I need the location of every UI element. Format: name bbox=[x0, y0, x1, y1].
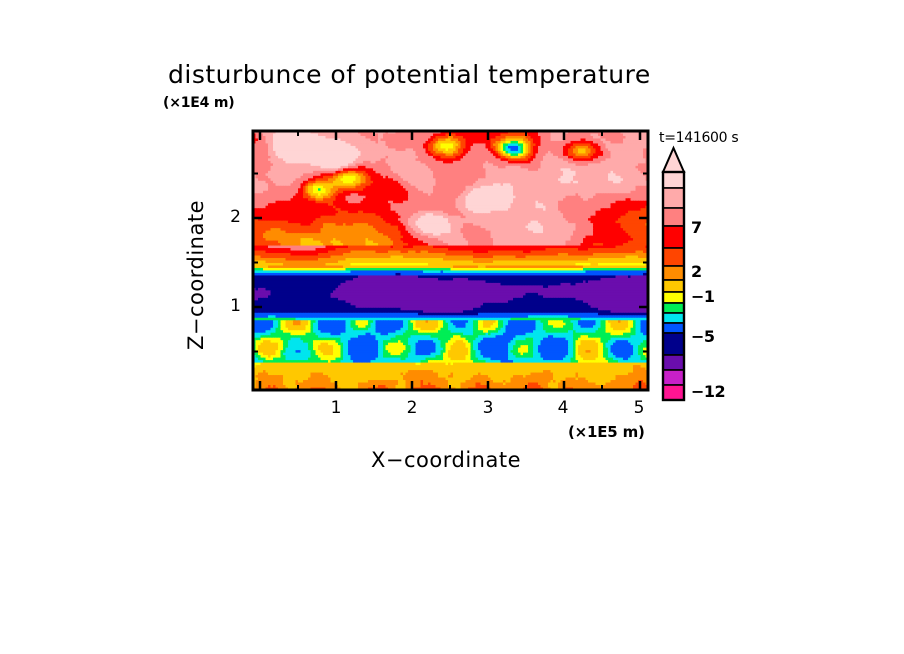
colorbar-band-14 bbox=[663, 385, 684, 400]
colorbar-band-10 bbox=[663, 323, 684, 333]
colorbar-label-1: 2 bbox=[691, 262, 702, 281]
colorbar-band-1 bbox=[663, 188, 684, 208]
colorbar-band-8 bbox=[663, 303, 684, 313]
colorbar-band-2 bbox=[663, 208, 684, 226]
x-tick-label-2: 2 bbox=[402, 398, 422, 418]
figure-canvas: disturbunce of potential temperature (×1… bbox=[0, 0, 904, 654]
contour-field bbox=[253, 131, 649, 391]
colorbar-label-0: 7 bbox=[691, 218, 702, 237]
x-tick-label-1: 1 bbox=[326, 398, 346, 418]
y-tick-label-2: 2 bbox=[221, 207, 241, 227]
colorbar-band-4 bbox=[663, 248, 684, 266]
colorbar-label-3: −5 bbox=[691, 327, 715, 346]
colorbar-label-2: −1 bbox=[691, 287, 715, 306]
colorbar-swatches bbox=[663, 148, 684, 400]
colorbar-band-12 bbox=[663, 355, 684, 370]
colorbar-band-6 bbox=[663, 280, 684, 292]
colorbar-band-5 bbox=[663, 266, 684, 280]
colorbar-band-3 bbox=[663, 226, 684, 248]
colorbar-band-11 bbox=[663, 333, 684, 355]
x-tick-label-5: 5 bbox=[629, 398, 649, 418]
y-tick-label-1: 1 bbox=[221, 296, 241, 316]
x-tick-label-3: 3 bbox=[478, 398, 498, 418]
colorbar-band-0 bbox=[663, 172, 684, 188]
colorbar-arrow-tip bbox=[663, 148, 684, 172]
colorbar-band-7 bbox=[663, 292, 684, 303]
contour-plot-svg bbox=[0, 0, 904, 654]
x-tick-label-4: 4 bbox=[553, 398, 573, 418]
colorbar-band-13 bbox=[663, 370, 684, 385]
colorbar-label-4: −12 bbox=[691, 382, 725, 401]
colorbar-band-9 bbox=[663, 313, 684, 323]
